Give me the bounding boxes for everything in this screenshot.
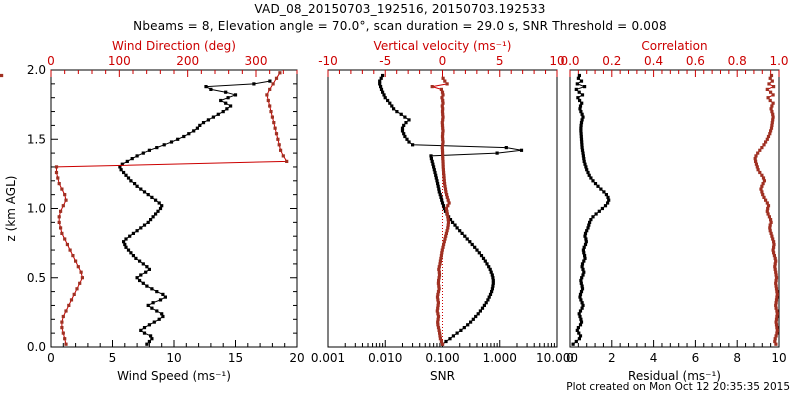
series-point <box>155 309 158 312</box>
series-point <box>212 116 215 119</box>
series-point <box>138 279 141 282</box>
plot-created-timestamp: Plot created on Mon Oct 12 20:35:35 2015 <box>0 381 790 393</box>
series-point <box>124 174 127 177</box>
series-point <box>580 132 583 135</box>
series-point <box>456 226 459 229</box>
series-point <box>442 243 445 246</box>
series-point <box>578 107 581 110</box>
series-point <box>446 215 449 218</box>
x-axis-tick-label-top: 1.0 <box>769 54 788 68</box>
series-point <box>64 343 67 346</box>
series-point <box>446 82 449 85</box>
series-point <box>775 273 778 276</box>
x-axis-tick-label: 20 <box>289 351 304 365</box>
y-axis-label: z (km AGL) <box>4 176 18 242</box>
series-point <box>436 307 439 310</box>
series-point <box>772 243 775 246</box>
series-point <box>64 199 67 202</box>
series-point <box>69 249 72 252</box>
series-point <box>447 199 450 202</box>
series-point <box>572 343 575 346</box>
series-point <box>224 102 227 105</box>
series-point <box>447 218 450 221</box>
series-point <box>578 91 581 94</box>
series-point <box>147 304 150 307</box>
series-point <box>755 163 758 166</box>
series-point <box>402 132 405 135</box>
x-axis-tick-label: 15 <box>228 351 243 365</box>
series-point <box>153 321 156 324</box>
series-point <box>150 337 153 340</box>
series-point <box>150 307 153 310</box>
series-point <box>442 77 445 80</box>
series-point <box>446 196 449 199</box>
series-point <box>443 182 446 185</box>
series-point <box>224 91 227 94</box>
series-point <box>155 290 158 293</box>
series-point <box>775 321 778 324</box>
series-point <box>66 243 69 246</box>
series-point <box>440 254 443 257</box>
series-point <box>578 337 581 340</box>
series-point <box>438 265 441 268</box>
series-point <box>581 118 584 121</box>
series-point <box>444 188 447 191</box>
x-axis-tick-label-top: 0.6 <box>686 54 705 68</box>
series-point <box>607 199 610 202</box>
x-axis-tick-label: 0 <box>566 351 574 365</box>
series-point <box>138 260 141 263</box>
series-point <box>441 135 444 138</box>
series-point <box>70 298 73 301</box>
series-point <box>134 257 137 260</box>
plot-canvas: 0.00.51.01.52.0z (km AGL)05101520Wind Sp… <box>0 0 800 400</box>
series-point <box>404 121 407 124</box>
series-point <box>279 149 282 152</box>
series-point <box>759 188 762 191</box>
series-point <box>581 301 584 304</box>
series-point <box>442 163 445 166</box>
series-point <box>774 282 777 285</box>
series-point <box>589 218 592 221</box>
panel-frame-wind <box>51 70 297 347</box>
series-point <box>580 138 583 141</box>
x-axis-tick-label-top: 300 <box>245 54 268 68</box>
series-point <box>448 201 451 204</box>
series-point <box>268 104 271 107</box>
series-point <box>160 312 163 315</box>
series-point <box>252 82 255 85</box>
series-point <box>466 323 469 326</box>
series-point <box>401 127 404 130</box>
series-point <box>442 171 445 174</box>
series-point <box>758 171 761 174</box>
y-axis-tick-label: 2.0 <box>27 63 46 77</box>
series-point <box>443 237 446 240</box>
series-point <box>217 113 220 116</box>
series-point <box>579 334 582 337</box>
series-point <box>222 110 225 113</box>
series-point <box>437 285 440 288</box>
series-point <box>158 318 161 321</box>
x-axis-tick-label-top: -5 <box>379 54 391 68</box>
series-point <box>77 265 80 268</box>
series-point <box>170 140 173 143</box>
series-point <box>378 82 381 85</box>
series-point <box>122 171 125 174</box>
series-point <box>436 321 439 324</box>
series-point <box>767 82 770 85</box>
series-point <box>152 301 155 304</box>
series-point <box>282 154 285 157</box>
series-point <box>446 226 449 229</box>
series-point <box>440 199 443 202</box>
series-point <box>442 174 445 177</box>
series-point <box>435 179 438 182</box>
series-point <box>380 77 383 80</box>
series-point <box>773 254 776 257</box>
series-point <box>381 91 384 94</box>
series-point <box>148 340 151 343</box>
series-point <box>441 249 444 252</box>
series-point <box>583 254 586 257</box>
series-point <box>139 329 142 332</box>
series-point <box>579 127 582 130</box>
series-point <box>159 207 162 210</box>
series-point <box>0 74 3 77</box>
series-point <box>773 340 776 343</box>
series-point <box>774 257 777 260</box>
series-point <box>583 85 586 88</box>
series-point <box>482 257 485 260</box>
series-point <box>477 312 480 315</box>
series-point <box>58 182 61 185</box>
series-point <box>74 260 77 263</box>
series-point <box>436 312 439 315</box>
series-point <box>55 171 58 174</box>
series-point <box>583 163 586 166</box>
series-point <box>127 249 130 252</box>
series-point <box>770 235 773 238</box>
series-point <box>142 152 145 155</box>
x-axis-tick-label: 2 <box>608 351 616 365</box>
series-point <box>403 135 406 138</box>
series-point <box>63 337 66 340</box>
series-point <box>136 276 139 279</box>
series-point <box>768 132 771 135</box>
series-point <box>431 163 434 166</box>
series-point <box>762 196 765 199</box>
series-point <box>436 309 439 312</box>
series-point <box>269 110 272 113</box>
series-point <box>452 334 455 337</box>
series-point <box>769 218 772 221</box>
series-point <box>579 298 582 301</box>
series-point <box>187 132 190 135</box>
series-point <box>775 307 778 310</box>
series-point <box>123 243 126 246</box>
series-point <box>163 143 166 146</box>
series-point <box>595 212 598 215</box>
series-point <box>776 329 779 332</box>
series-point <box>441 107 444 110</box>
series-point <box>601 207 604 210</box>
series-point <box>578 312 581 315</box>
series-point <box>581 116 584 119</box>
series-point <box>591 215 594 218</box>
x-axis-tick-label-top: 0 <box>47 54 55 68</box>
series-point <box>441 154 444 157</box>
series-point <box>142 282 145 285</box>
series-point <box>606 196 609 199</box>
x-axis-tick-label: 6 <box>692 351 700 365</box>
series-point <box>438 329 441 332</box>
series-point <box>579 293 582 296</box>
series-point <box>378 80 381 83</box>
series-point <box>265 93 268 96</box>
series-point <box>143 190 146 193</box>
series-point <box>271 116 274 119</box>
series-point <box>772 116 775 119</box>
y-axis-tick-label: 1.0 <box>27 202 46 216</box>
series-point <box>225 107 228 110</box>
series-point <box>466 237 469 240</box>
series-point <box>445 210 448 213</box>
x-axis-tick-label: 10 <box>771 351 786 365</box>
series-point <box>441 246 444 249</box>
series-point <box>775 301 778 304</box>
series-point <box>766 138 769 141</box>
series-point <box>599 188 602 191</box>
series-point <box>580 80 583 83</box>
series-point <box>62 332 65 335</box>
series-point <box>440 340 443 343</box>
series-point <box>402 124 405 127</box>
series-point <box>576 82 579 85</box>
series-point <box>150 196 153 199</box>
series-point <box>390 104 393 107</box>
series-point <box>579 309 582 312</box>
series-point <box>445 207 448 210</box>
series-point <box>485 301 488 304</box>
series-point <box>444 235 447 238</box>
series-point <box>583 160 586 163</box>
series-point <box>579 110 582 113</box>
series-point <box>139 188 142 191</box>
series-point <box>481 307 484 310</box>
series-point <box>202 121 205 124</box>
series-point <box>56 176 59 179</box>
series-point <box>120 168 123 171</box>
series-point <box>437 290 440 293</box>
x-axis-tick-label: 0.100 <box>425 351 459 365</box>
series-point <box>278 71 281 74</box>
series-point <box>437 326 440 329</box>
series-point <box>491 273 494 276</box>
series-point <box>55 165 58 168</box>
series-point <box>585 229 588 232</box>
series-point <box>143 326 146 329</box>
series-point <box>606 201 609 204</box>
series-point <box>486 298 489 301</box>
series-point <box>580 124 583 127</box>
series-point <box>579 104 582 107</box>
x-axis-tick-label-top: 0 <box>439 54 447 68</box>
series-point <box>156 210 159 213</box>
series-point <box>148 323 151 326</box>
series-point <box>771 237 774 240</box>
series-point <box>768 226 771 229</box>
series-point <box>441 110 444 113</box>
series-point <box>441 132 444 135</box>
series-point <box>579 318 582 321</box>
series-point <box>196 127 199 130</box>
series-point <box>580 143 583 146</box>
series-point <box>268 80 271 83</box>
series-point <box>444 190 447 193</box>
series-point <box>143 332 146 335</box>
series-point <box>754 154 757 157</box>
series-point <box>770 104 773 107</box>
series-point <box>204 85 207 88</box>
series-point <box>591 179 594 182</box>
series-point <box>458 229 461 232</box>
series-point <box>62 315 65 318</box>
x-axis-tick-label: 0 <box>47 351 55 365</box>
series-point <box>136 154 139 157</box>
series-point <box>580 290 583 293</box>
x-axis-tick-label: 0.001 <box>311 351 345 365</box>
series-point <box>227 96 230 99</box>
series-point <box>441 118 444 121</box>
series-point <box>602 190 605 193</box>
series-point <box>145 285 148 288</box>
series-point <box>126 160 129 163</box>
series-point <box>766 201 769 204</box>
series-point <box>766 210 769 213</box>
y-axis-tick-label: 0.5 <box>27 271 46 285</box>
series-point <box>439 196 442 199</box>
series-point <box>441 201 444 204</box>
series-point <box>446 229 449 232</box>
series-point <box>581 285 584 288</box>
series-point <box>766 88 769 91</box>
series-point <box>772 249 775 252</box>
series-point <box>598 210 601 213</box>
series-point <box>490 290 493 293</box>
x-axis-label-top-residual: Correlation <box>641 39 707 53</box>
series-point <box>520 149 523 152</box>
series-point <box>770 74 773 77</box>
series-point <box>763 179 766 182</box>
series-point <box>442 168 445 171</box>
series-point <box>580 135 583 138</box>
series-point <box>773 265 776 268</box>
x-axis-tick-label-top: 0.2 <box>602 54 621 68</box>
series-point <box>152 215 155 218</box>
series-point <box>441 124 444 127</box>
series-point <box>775 318 778 321</box>
x-axis-tick-label: 5 <box>109 351 117 365</box>
series-point <box>775 326 778 329</box>
series-point <box>441 160 444 163</box>
series-point <box>775 298 778 301</box>
series-point <box>473 246 476 249</box>
x-axis-tick-label-top: -10 <box>318 54 338 68</box>
series-point <box>438 262 441 265</box>
series-point <box>386 99 389 102</box>
series-point <box>769 99 772 102</box>
series-point <box>490 271 493 274</box>
series-point <box>433 168 436 171</box>
series-point <box>131 157 134 160</box>
series-point <box>132 254 135 257</box>
series-point <box>207 118 210 121</box>
series-point <box>586 171 589 174</box>
series-point <box>59 226 62 229</box>
series-point <box>129 179 132 182</box>
series-point <box>63 193 66 196</box>
series-point <box>775 279 778 282</box>
y-axis-tick-label: 0.0 <box>27 340 46 354</box>
series-point <box>437 188 440 191</box>
series-point <box>144 271 147 274</box>
series-point <box>463 235 466 238</box>
vad-plot-figure: VAD_08_20150703_192516, 20150703.192533 … <box>0 0 800 400</box>
series-point <box>443 179 446 182</box>
series-line-wind-speed <box>120 81 270 344</box>
series-point <box>441 138 444 141</box>
series-point <box>434 174 437 177</box>
series-point <box>276 138 279 141</box>
series-point <box>496 152 499 155</box>
series-point <box>176 138 179 141</box>
series-point <box>583 246 586 249</box>
series-point <box>769 77 772 80</box>
series-point <box>762 143 765 146</box>
series-point <box>586 226 589 229</box>
series-point <box>267 99 270 102</box>
series-point <box>766 207 769 210</box>
series-point <box>438 190 441 193</box>
series-point <box>161 293 164 296</box>
series-point <box>441 146 444 149</box>
series-point <box>158 201 161 204</box>
series-point <box>776 312 779 315</box>
series-point <box>436 298 439 301</box>
series-point <box>60 232 63 235</box>
x-axis-label-top-wind: Wind Direction (deg) <box>112 39 236 53</box>
series-point <box>149 218 152 221</box>
series-point <box>407 118 410 121</box>
series-point <box>147 193 150 196</box>
series-point <box>275 132 278 135</box>
series-point <box>411 143 414 146</box>
series-point <box>132 232 135 235</box>
x-axis-tick-label-top: 100 <box>108 54 131 68</box>
series-point <box>441 143 444 146</box>
series-point <box>441 127 444 130</box>
series-point <box>438 273 441 276</box>
series-point <box>767 96 770 99</box>
series-point <box>580 321 583 324</box>
series-point <box>275 77 278 80</box>
series-point <box>71 254 74 257</box>
series-point <box>594 182 597 185</box>
series-point <box>392 107 395 110</box>
series-point <box>198 124 201 127</box>
series-point <box>124 246 127 249</box>
